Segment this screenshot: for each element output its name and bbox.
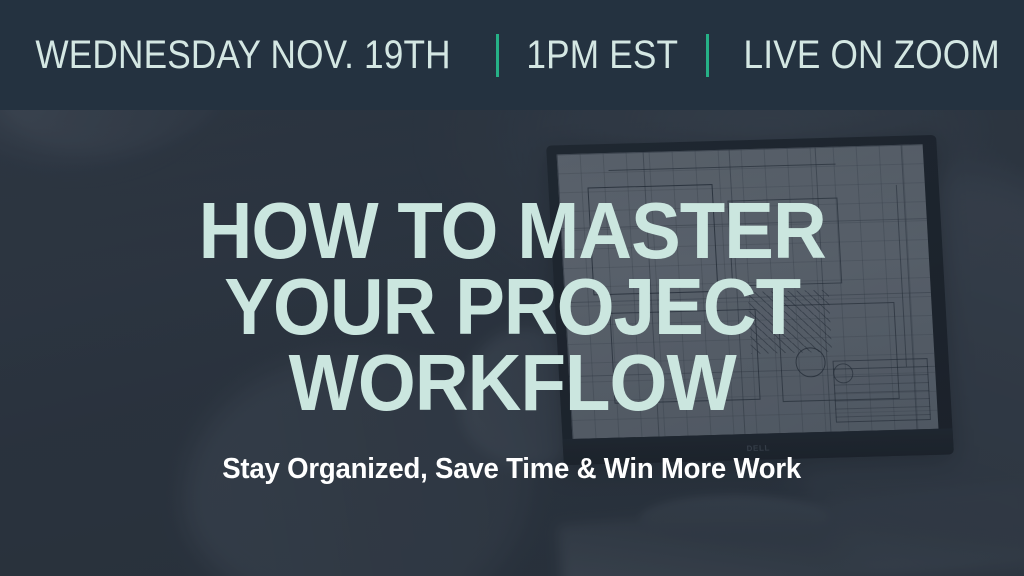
title-line-1: HOW TO MASTER [198, 193, 825, 269]
separator-divider-1 [496, 34, 499, 77]
webinar-promo-banner: DELL WEDNESDAY NOV. 19TH 1PM EST LIVE ON… [0, 0, 1024, 576]
event-platform-label: LIVE ON ZOOM [743, 35, 999, 75]
event-details-bar: WEDNESDAY NOV. 19TH 1PM EST LIVE ON ZOOM [0, 0, 1024, 110]
title-line-3: WORKFLOW [198, 345, 825, 421]
event-details-row: WEDNESDAY NOV. 19TH 1PM EST LIVE ON ZOOM [7, 34, 1017, 77]
event-date-label: WEDNESDAY NOV. 19TH [35, 35, 450, 75]
page-subtitle: Stay Organized, Save Time & Win More Wor… [223, 453, 802, 486]
page-title: HOW TO MASTER YOUR PROJECT WORKFLOW [198, 193, 825, 421]
separator-divider-2 [706, 34, 709, 77]
event-time-label: 1PM EST [526, 35, 678, 75]
main-content: HOW TO MASTER YOUR PROJECT WORKFLOW Stay… [0, 110, 1024, 576]
title-line-2: YOUR PROJECT [198, 269, 825, 345]
